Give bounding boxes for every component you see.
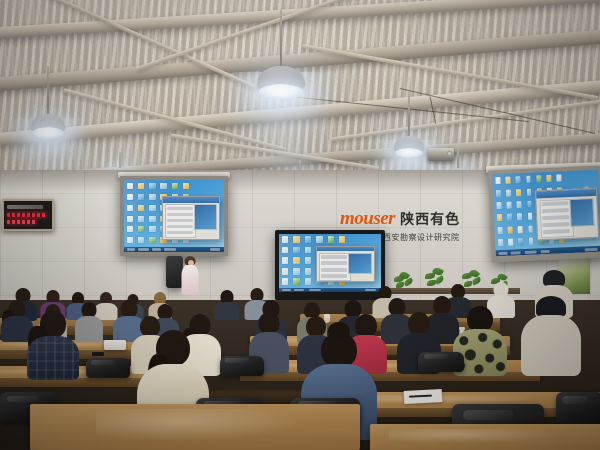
phone[interactable] (92, 352, 104, 356)
banner-brand-cn: 陕西有色 (400, 209, 460, 229)
person-head (408, 312, 430, 335)
led-row-bottom (7, 220, 37, 224)
ceiling-projector (428, 148, 454, 161)
projection-screen-right (488, 166, 600, 263)
lcd-monitor-center (275, 230, 385, 300)
desk-row-foreground-right (370, 424, 600, 450)
screen-surface-right (492, 170, 600, 257)
potted-plant-2 (424, 268, 446, 288)
desk-sheen (389, 429, 557, 443)
screen-surface-left (124, 180, 224, 252)
desk-row-foreground (30, 404, 360, 450)
chair[interactable] (418, 352, 464, 372)
lamp-rod (47, 66, 49, 118)
paper-sheet[interactable] (404, 389, 443, 404)
person-torso-plaid (27, 336, 79, 380)
screen-glare-left (124, 180, 224, 252)
presenter-body (182, 265, 199, 295)
pen[interactable] (409, 395, 433, 398)
chair[interactable] (556, 392, 600, 426)
chair[interactable] (220, 356, 264, 376)
screen-glare-center (279, 234, 381, 292)
laptop[interactable] (104, 340, 126, 350)
person-torso (521, 315, 581, 376)
lamp-rod (280, 10, 282, 72)
person-head (259, 312, 280, 334)
lamp-bulb (32, 127, 64, 139)
audience-person-row-c-9 (520, 296, 582, 376)
person-hair-bun (328, 322, 350, 340)
projection-screen-left (120, 176, 228, 256)
lamp-bulb (258, 84, 304, 100)
banner-brand-latin: mouser (340, 208, 395, 230)
lamp-rod (457, 148, 459, 170)
projector-lens (447, 151, 452, 156)
led-row-top (7, 205, 43, 209)
desk-sheen (96, 409, 301, 441)
led-row-middle (7, 213, 47, 217)
lamp-bulb (395, 148, 423, 158)
screen-surface-center (279, 234, 381, 292)
screen-glare-right (492, 170, 600, 257)
chair[interactable] (86, 358, 130, 378)
conference-hall-photo: mouser 陕西有色 有色金属工业西安勘察设计研究院 (0, 0, 600, 450)
led-scrolling-sign (2, 199, 54, 231)
audience-person-row-c-1 (26, 310, 80, 380)
presenter-standing (180, 256, 200, 302)
lamp-rod (408, 92, 410, 140)
